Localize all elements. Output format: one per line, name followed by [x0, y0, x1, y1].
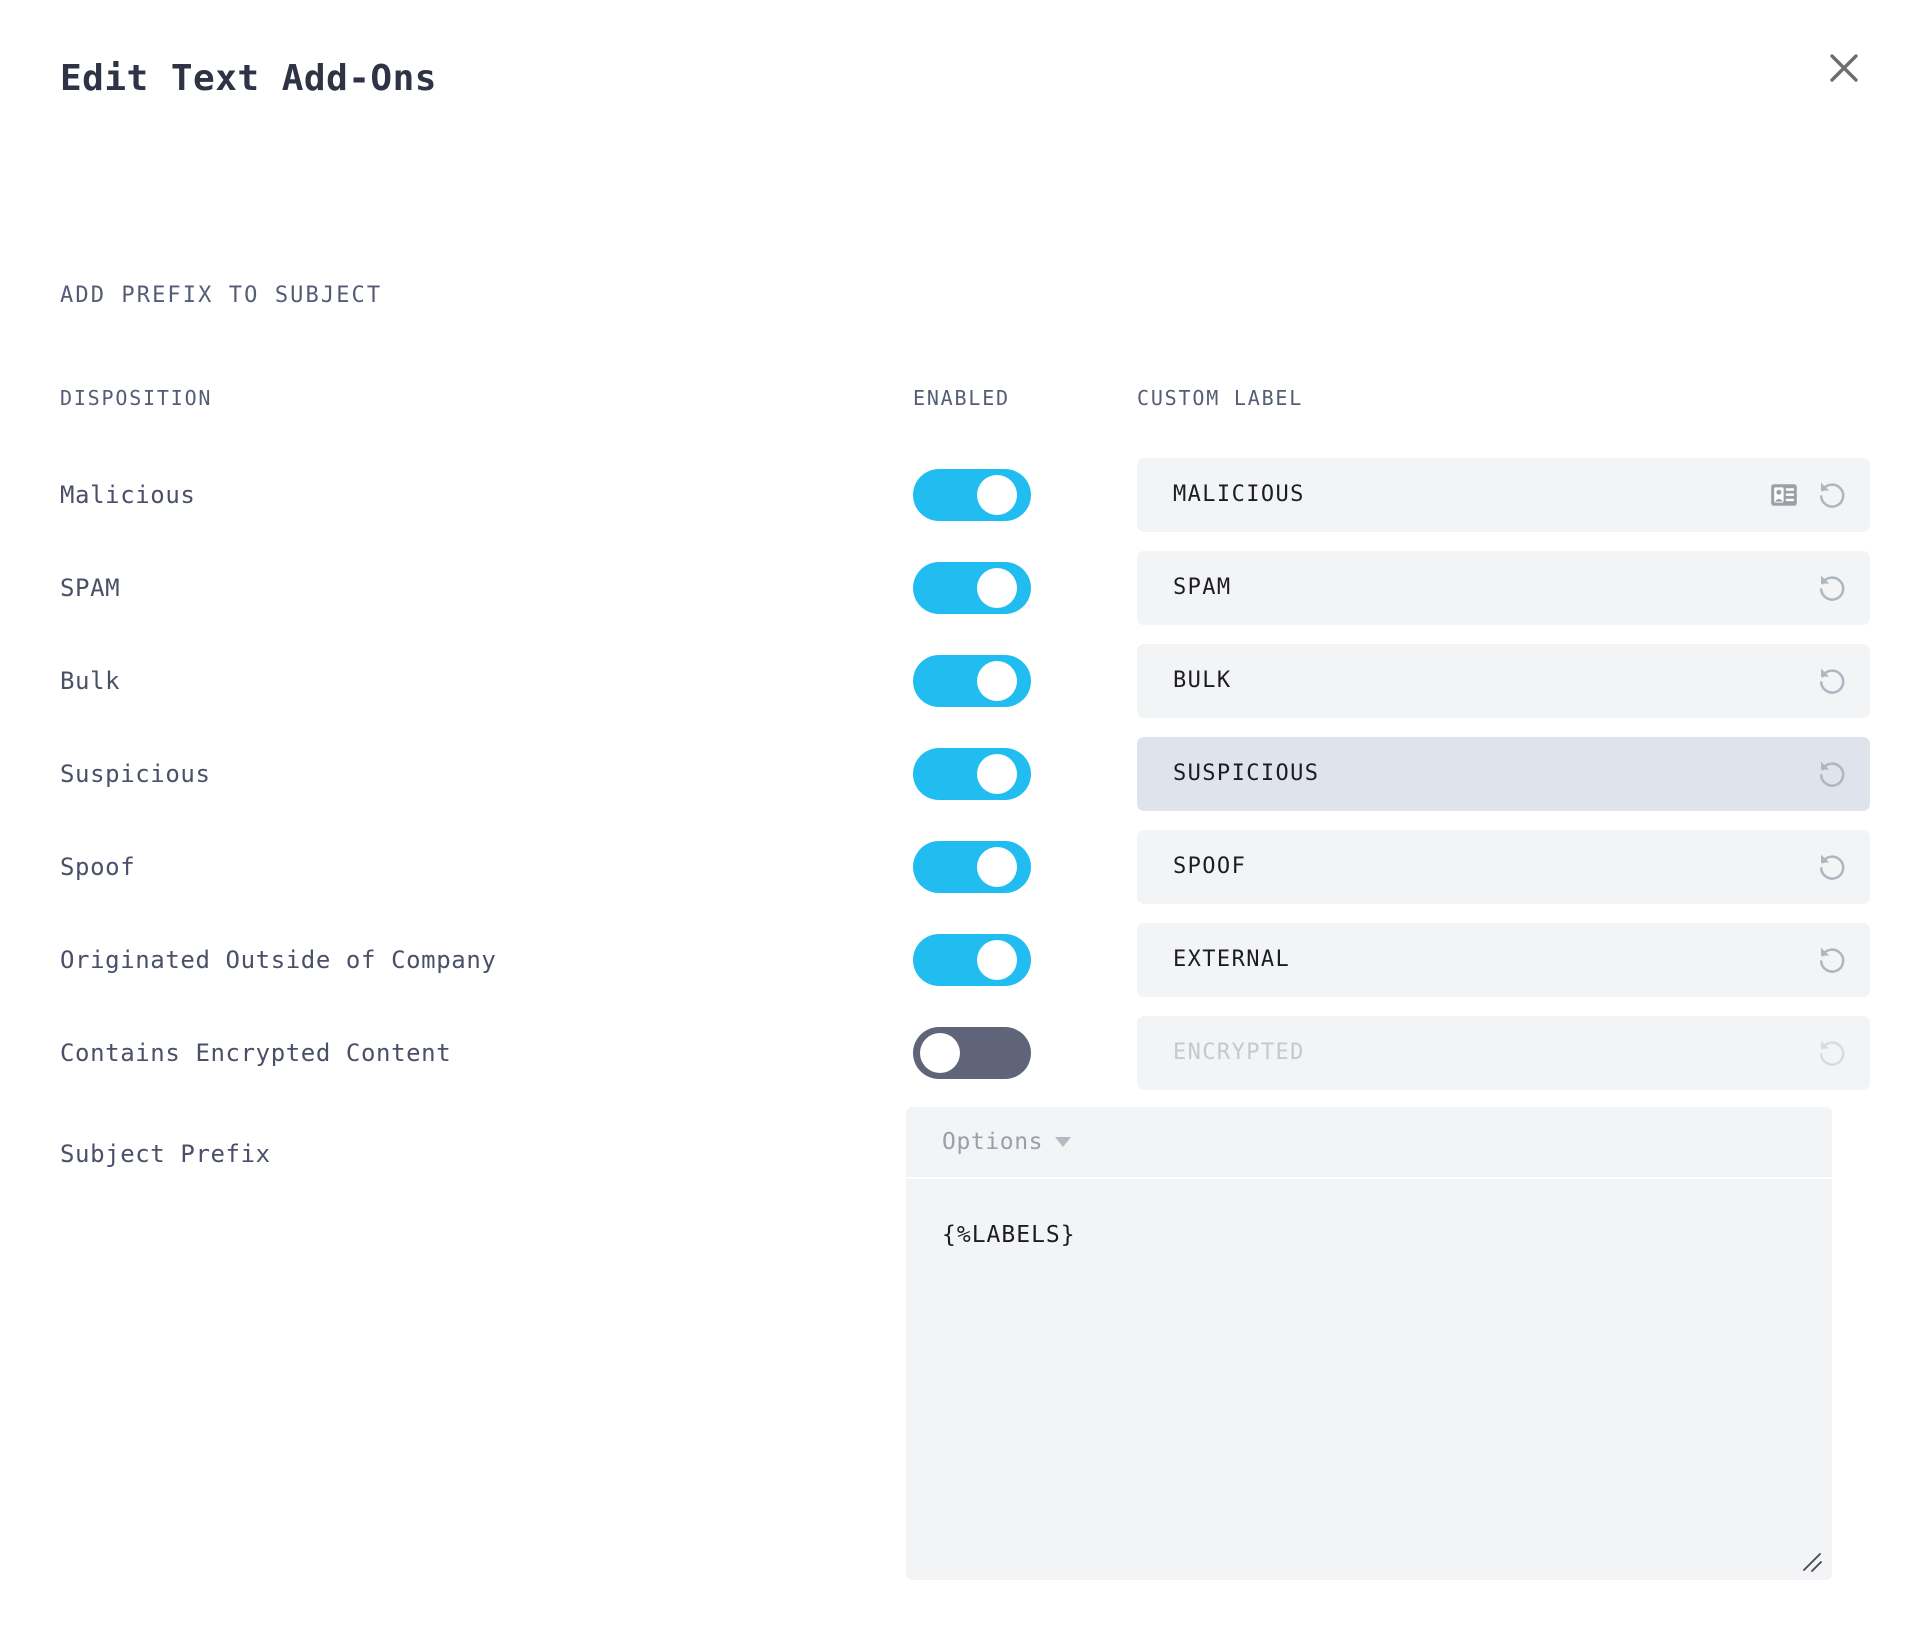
- dialog-header: Edit Text Add-Ons: [0, 0, 1908, 160]
- page-title: Edit Text Add-Ons: [60, 58, 437, 99]
- toggle-knob: [977, 754, 1017, 794]
- table-row: SpoofSPOOF: [0, 820, 1908, 913]
- custom-label-value: BULK: [1173, 668, 1814, 693]
- custom-label-value: ENCRYPTED: [1173, 1040, 1814, 1065]
- table-row: SuspiciousSUSPICIOUS: [0, 727, 1908, 820]
- custom-label-field[interactable]: SPAM: [1137, 551, 1870, 625]
- enabled-toggle-cell: [913, 1027, 1031, 1079]
- table-row: Contains Encrypted ContentENCRYPTED: [0, 1006, 1908, 1099]
- field-icon-group: [1814, 664, 1848, 698]
- field-icon-group: [1814, 571, 1848, 605]
- toggle-knob: [977, 568, 1017, 608]
- enabled-toggle-cell: [913, 841, 1031, 893]
- table-header-row: DISPOSITION ENABLED CUSTOM LABEL: [0, 386, 1908, 448]
- section-title: ADD PREFIX TO SUBJECT: [60, 283, 382, 308]
- disposition-label: SPAM: [60, 574, 120, 602]
- close-button[interactable]: [1818, 42, 1870, 94]
- editor-textarea[interactable]: {%LABELS}: [906, 1177, 1832, 1580]
- enabled-toggle[interactable]: [913, 562, 1031, 614]
- disposition-label: Malicious: [60, 481, 195, 509]
- editor-text-value: {%LABELS}: [942, 1222, 1796, 1248]
- editor-toolbar: Options: [906, 1107, 1832, 1177]
- field-icon-group: [1814, 1036, 1848, 1070]
- table-row: BulkBULK: [0, 634, 1908, 727]
- table-row: MaliciousMALICIOUS: [0, 448, 1908, 541]
- enabled-toggle-cell: [913, 469, 1031, 521]
- disposition-label: Originated Outside of Company: [60, 946, 496, 974]
- disposition-table: DISPOSITION ENABLED CUSTOM LABEL Malicio…: [0, 386, 1908, 1099]
- resize-handle-icon[interactable]: [1798, 1548, 1824, 1574]
- custom-label-value: EXTERNAL: [1173, 947, 1814, 972]
- subject-prefix-editor: Options {%LABELS}: [906, 1107, 1832, 1580]
- close-icon: [1827, 51, 1861, 85]
- enabled-toggle[interactable]: [913, 1027, 1031, 1079]
- options-dropdown-label: Options: [942, 1129, 1043, 1155]
- enabled-toggle[interactable]: [913, 469, 1031, 521]
- reset-icon[interactable]: [1814, 943, 1848, 977]
- reset-icon[interactable]: [1814, 664, 1848, 698]
- reset-icon[interactable]: [1814, 1036, 1848, 1070]
- column-header-enabled: ENABLED: [913, 386, 1010, 410]
- custom-label-field[interactable]: SUSPICIOUS: [1137, 737, 1870, 811]
- toggle-knob: [977, 847, 1017, 887]
- custom-label-value: SUSPICIOUS: [1173, 761, 1814, 786]
- custom-label-field[interactable]: SPOOF: [1137, 830, 1870, 904]
- disposition-label: Suspicious: [60, 760, 211, 788]
- enabled-toggle[interactable]: [913, 748, 1031, 800]
- enabled-toggle[interactable]: [913, 841, 1031, 893]
- enabled-toggle-cell: [913, 562, 1031, 614]
- table-row: SPAMSPAM: [0, 541, 1908, 634]
- toggle-knob: [920, 1033, 960, 1073]
- reset-icon[interactable]: [1814, 478, 1848, 512]
- reset-icon[interactable]: [1814, 757, 1848, 791]
- enabled-toggle-cell: [913, 655, 1031, 707]
- field-icon-group: [1814, 850, 1848, 884]
- toggle-knob: [977, 475, 1017, 515]
- custom-label-field[interactable]: MALICIOUS: [1137, 458, 1870, 532]
- disposition-label: Bulk: [60, 667, 120, 695]
- table-row: Originated Outside of CompanyEXTERNAL: [0, 913, 1908, 1006]
- options-dropdown[interactable]: Options: [942, 1129, 1071, 1155]
- reset-icon[interactable]: [1814, 571, 1848, 605]
- custom-label-value: MALICIOUS: [1173, 482, 1770, 507]
- field-icon-group: [1770, 478, 1848, 512]
- toggle-knob: [977, 940, 1017, 980]
- enabled-toggle[interactable]: [913, 655, 1031, 707]
- custom-label-field[interactable]: EXTERNAL: [1137, 923, 1870, 997]
- reset-icon[interactable]: [1814, 850, 1848, 884]
- subject-prefix-label: Subject Prefix: [60, 1140, 271, 1168]
- enabled-toggle-cell: [913, 934, 1031, 986]
- enabled-toggle[interactable]: [913, 934, 1031, 986]
- custom-label-value: SPOOF: [1173, 854, 1814, 879]
- enabled-toggle-cell: [913, 748, 1031, 800]
- field-icon-group: [1814, 757, 1848, 791]
- custom-label-field[interactable]: BULK: [1137, 644, 1870, 718]
- column-header-disposition: DISPOSITION: [60, 386, 212, 410]
- disposition-label: Contains Encrypted Content: [60, 1039, 451, 1067]
- contact-card-icon[interactable]: [1770, 483, 1798, 507]
- chevron-down-icon: [1055, 1137, 1071, 1147]
- field-icon-group: [1814, 943, 1848, 977]
- custom-label-field[interactable]: ENCRYPTED: [1137, 1016, 1870, 1090]
- toggle-knob: [977, 661, 1017, 701]
- disposition-label: Spoof: [60, 853, 135, 881]
- column-header-custom-label: CUSTOM LABEL: [1137, 386, 1303, 410]
- custom-label-value: SPAM: [1173, 575, 1814, 600]
- table-body: MaliciousMALICIOUSSPAMSPAMBulkBULKSuspic…: [0, 448, 1908, 1099]
